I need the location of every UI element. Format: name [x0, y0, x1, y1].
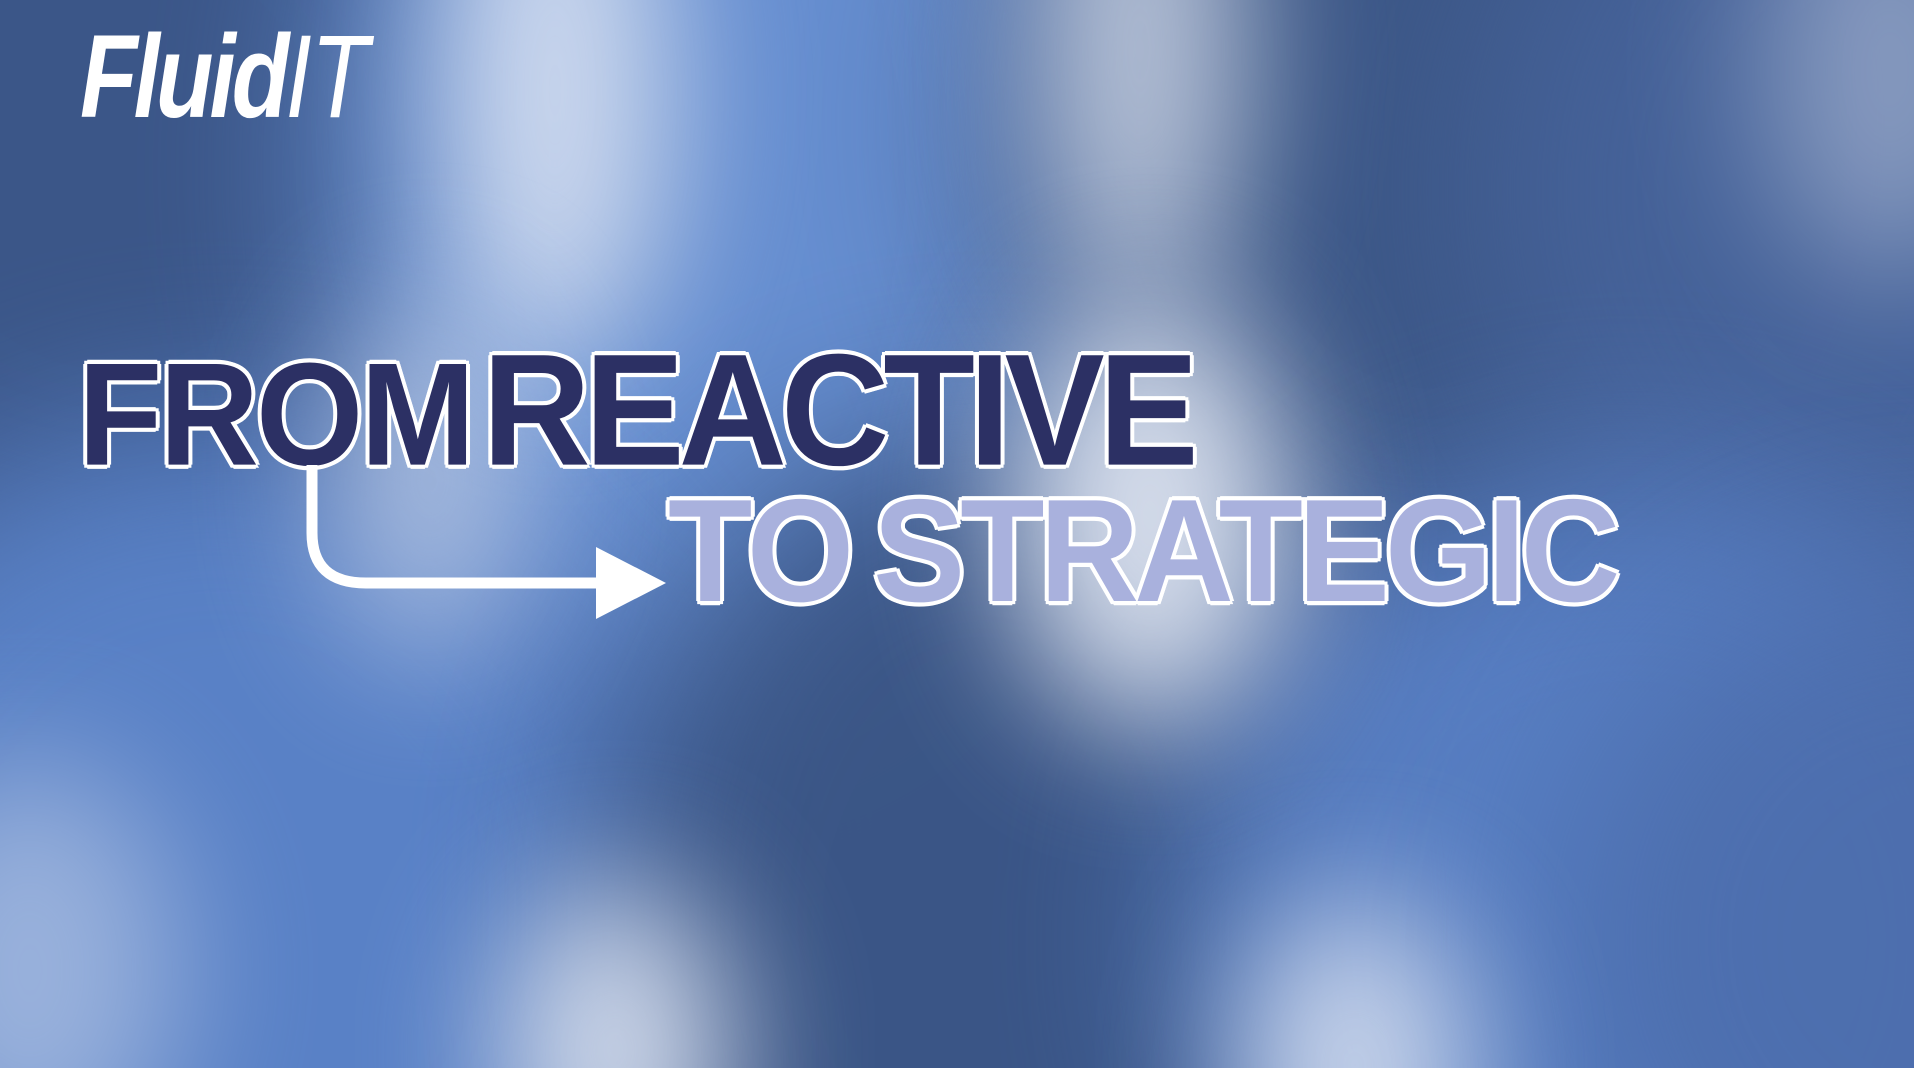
headline-word-to: TO: [668, 478, 851, 624]
headline-line-1: FROMREACTIVE: [78, 330, 1193, 489]
headline-word-strategic: STRATEGIC: [873, 478, 1615, 624]
headline-block: FROMREACTIVE TOSTRATEGIC: [0, 0, 1914, 1068]
headline-word-reactive: REACTIVE: [482, 330, 1192, 489]
slide-canvas: FluidIT FROMREACTIVE TOSTRATEGIC: [0, 0, 1914, 1068]
headline-line-2: TOSTRATEGIC: [668, 478, 1615, 624]
headline-word-from: FROM: [78, 342, 472, 488]
